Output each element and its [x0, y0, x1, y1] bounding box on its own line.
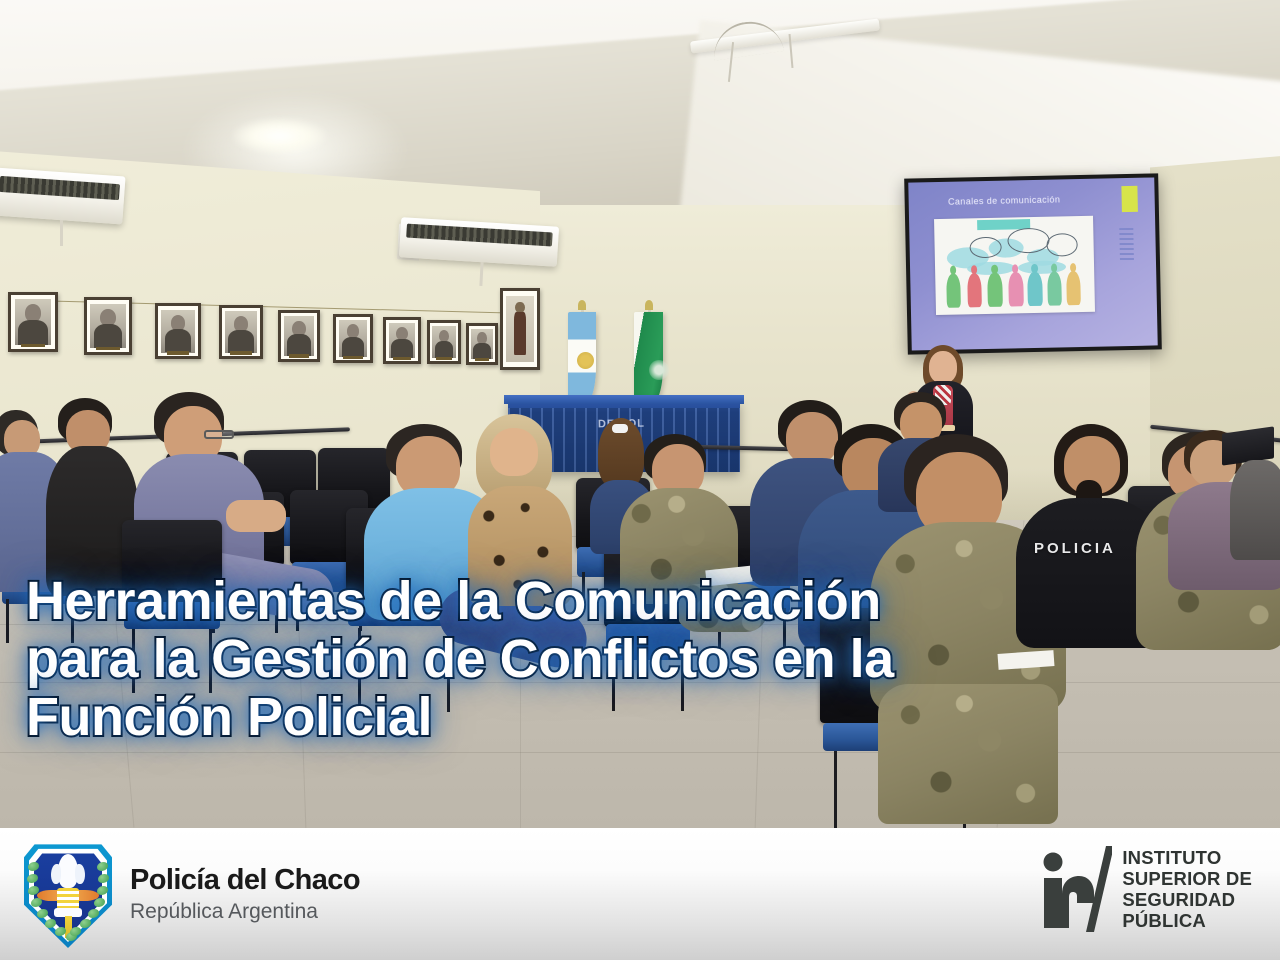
figure-icon — [967, 273, 982, 308]
ac-drain-pipe — [60, 220, 63, 246]
sol-de-mayo — [577, 352, 594, 369]
hands — [226, 500, 286, 532]
event-banner: DE POL Canales de comunicación — [0, 0, 1280, 960]
flag-finial — [645, 300, 653, 310]
air-conditioner-unit — [0, 168, 126, 225]
wall-portrait — [219, 305, 263, 359]
slide-illustration — [934, 216, 1096, 315]
figure-icon — [1066, 271, 1081, 306]
table-top — [504, 395, 744, 404]
event-photograph: DE POL Canales de comunicación — [0, 0, 1280, 828]
title-line-2: para la Gestión de Conflictos en la — [26, 630, 1146, 688]
ac-grill — [0, 176, 120, 201]
speech-bubble — [1018, 260, 1066, 274]
policia-name: Policía del Chaco — [130, 864, 360, 896]
banner-title: Herramientas de la Comunicación para la … — [26, 572, 1146, 746]
slide-heading: Canales de comunicación — [948, 195, 1060, 207]
policia-del-chaco-brand: Policía del Chaco República Argentina — [24, 840, 360, 948]
isp-line-3: SEGURIDAD — [1122, 889, 1252, 910]
presenter-head — [929, 351, 957, 383]
title-line-3: Función Policial — [26, 688, 1146, 746]
eyeglasses — [204, 430, 234, 439]
instituto-superior-brand: INSTITUTO SUPERIOR DE SEGURIDAD PÚBLICA — [1036, 846, 1252, 932]
fasces-icon — [57, 888, 79, 910]
ceiling-light-fixture — [232, 118, 327, 154]
isp-line-2: SUPERIOR DE — [1122, 868, 1252, 889]
wall-portrait — [427, 320, 461, 364]
isp-line-1: INSTITUTO — [1122, 847, 1252, 868]
policia-shield-logo — [24, 840, 112, 948]
slide-accent-block — [1121, 186, 1138, 212]
isp-line-4: PÚBLICA — [1122, 910, 1252, 931]
audience-member — [1230, 440, 1280, 560]
bandera-argentina — [568, 312, 596, 404]
in-monogram-logo — [1036, 846, 1112, 932]
figure-icon — [988, 272, 1003, 307]
ac-grill — [406, 224, 552, 246]
wall-portrait — [383, 317, 421, 364]
projected-slide: Canales de comunicación — [908, 177, 1157, 350]
figure-icon — [1047, 271, 1062, 306]
wall-portrait — [466, 323, 498, 365]
chaco-emblem — [649, 360, 669, 380]
flag-finial — [578, 300, 586, 310]
wall-portrait — [155, 303, 201, 359]
wall-portrait — [8, 292, 58, 352]
hair-clip — [612, 424, 628, 433]
policia-brand-text: Policía del Chaco República Argentina — [130, 864, 360, 925]
bandera-chaco — [634, 312, 663, 404]
wall-portrait — [278, 310, 320, 362]
projection-screen: Canales de comunicación — [904, 173, 1162, 354]
footer-bar: Policía del Chaco República Argentina IN… — [0, 828, 1280, 960]
slide-side-marks — [1119, 228, 1134, 262]
figure-icon — [946, 273, 961, 308]
wall-portrait — [333, 314, 373, 363]
figure-icon — [1027, 271, 1042, 306]
uniform-text: POLICIA — [1034, 540, 1116, 557]
flame-icon — [58, 854, 78, 888]
wall-portrait — [84, 297, 132, 355]
speech-bubble-outline — [1046, 233, 1078, 257]
wall-portrait-fulllength — [500, 288, 540, 370]
figure-icon — [1008, 272, 1023, 307]
title-line-1: Herramientas de la Comunicación — [26, 572, 1146, 630]
instituto-text-block: INSTITUTO SUPERIOR DE SEGURIDAD PÚBLICA — [1122, 847, 1252, 931]
policia-subtitle: República Argentina — [130, 898, 360, 925]
